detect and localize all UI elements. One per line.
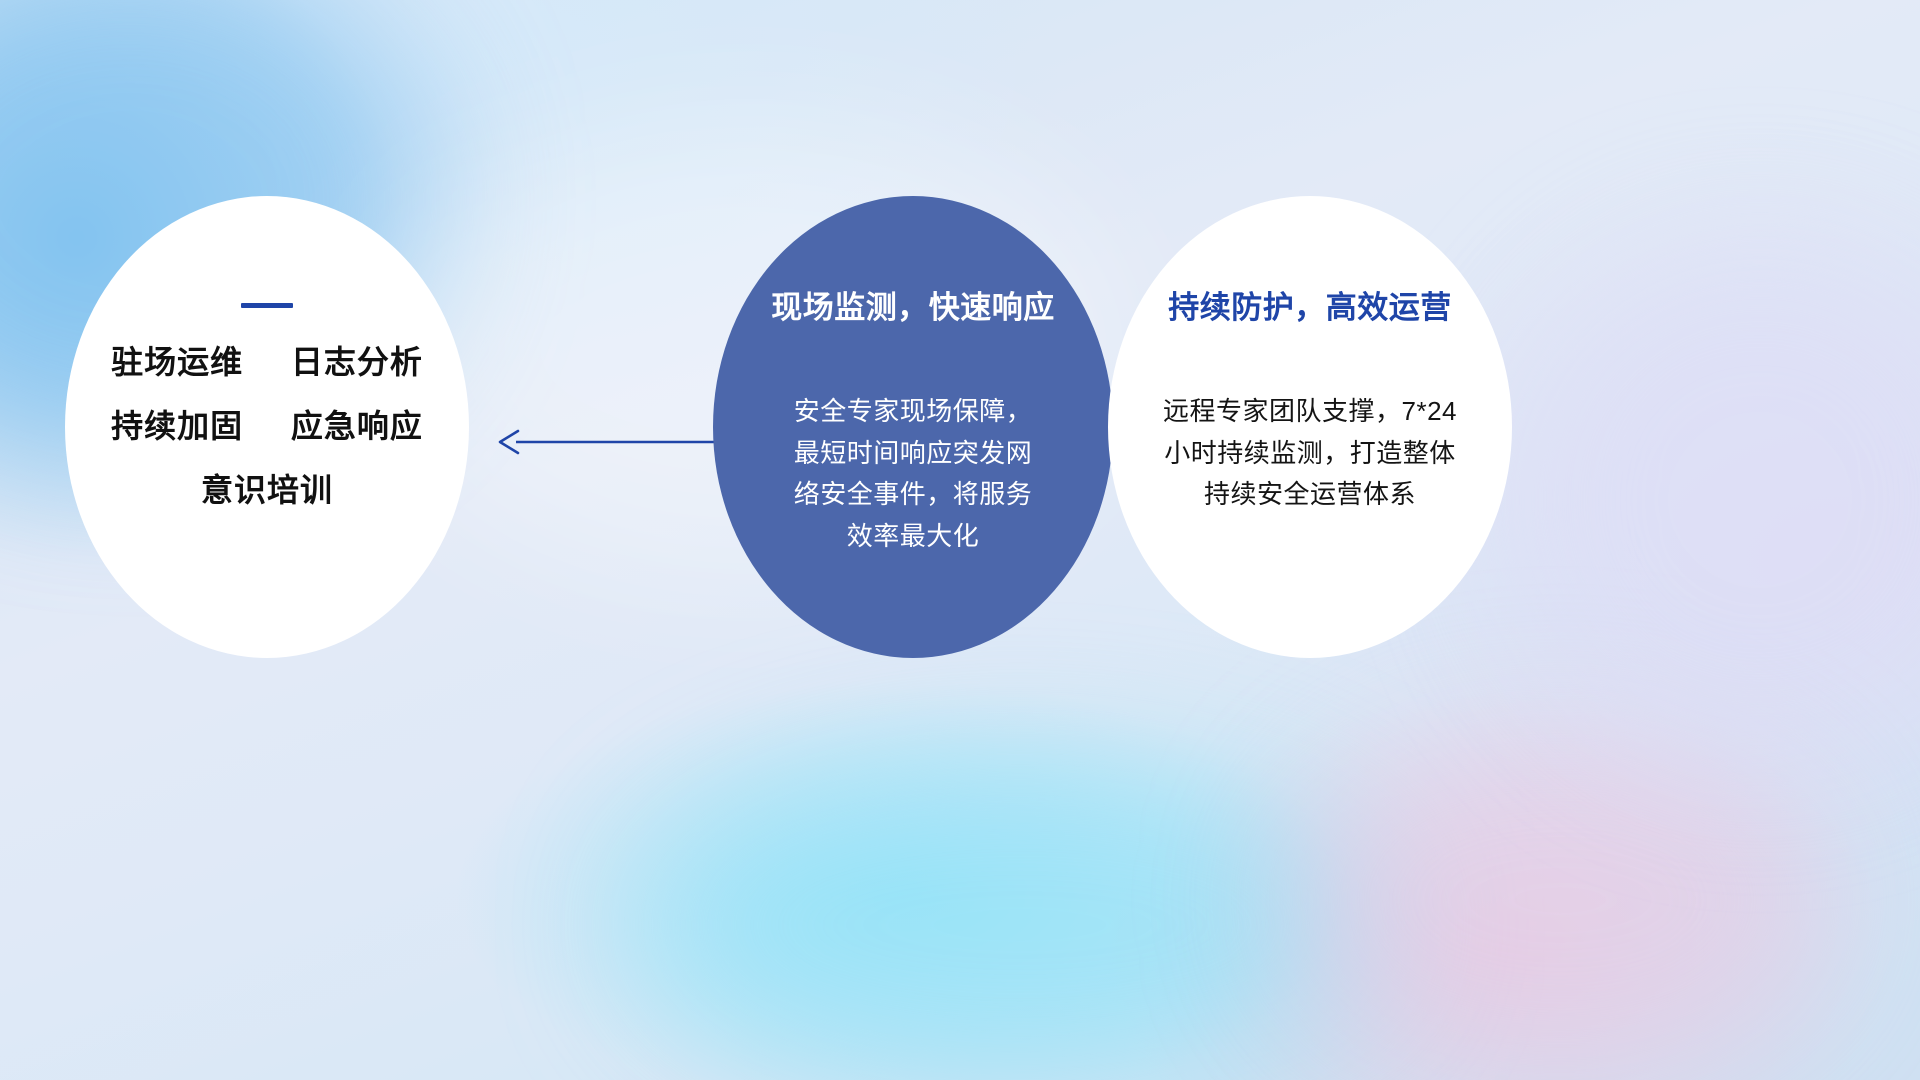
body-line: 络安全事件，将服务	[748, 474, 1078, 516]
keyword-label: 意识培训	[201, 472, 333, 508]
body-line: 小时持续监测，打造整体	[1138, 433, 1483, 475]
background-glow-cyan	[640, 760, 1400, 1080]
right-circle-heading: 持续防护，高效运营	[1138, 291, 1483, 325]
body-line: 安全专家现场保障，	[748, 391, 1078, 433]
keyword-label: 持续加固	[111, 408, 243, 444]
capability-circle-middle: 现场监测，快速响应 安全专家现场保障， 最短时间响应突发网 络安全事件，将服务 …	[713, 196, 1113, 658]
middle-circle-heading: 现场监测，快速响应	[748, 291, 1078, 325]
keyword-row: 驻场运维 日志分析	[65, 346, 469, 378]
body-line: 远程专家团队支撑，7*24	[1138, 391, 1483, 433]
divider-dash-icon	[241, 303, 293, 308]
background-glow-pink	[1280, 720, 1840, 1080]
capability-circle-left: 驻场运维 日志分析 持续加固 应急响应 意识培训	[65, 196, 469, 658]
capability-circle-right: 持续防护，高效运营 远程专家团队支撑，7*24 小时持续监测，打造整体 持续安全…	[1108, 196, 1512, 658]
body-line: 最短时间响应突发网	[748, 433, 1078, 475]
keyword-label: 日志分析	[291, 344, 423, 380]
body-line: 持续安全运营体系	[1138, 474, 1483, 516]
body-line: 效率最大化	[748, 516, 1078, 558]
left-arrow-icon	[492, 420, 722, 464]
middle-circle-body: 安全专家现场保障， 最短时间响应突发网 络安全事件，将服务 效率最大化	[748, 391, 1078, 557]
keyword-row: 持续加固 应急响应	[65, 410, 469, 442]
keyword-row-final: 意识培训	[65, 474, 469, 506]
right-circle-body: 远程专家团队支撑，7*24 小时持续监测，打造整体 持续安全运营体系	[1138, 391, 1483, 516]
keyword-label: 应急响应	[291, 408, 423, 444]
keyword-label: 驻场运维	[111, 344, 243, 380]
background-glow-lavender	[1500, 240, 1920, 760]
slide-canvas: 驻场运维 日志分析 持续加固 应急响应 意识培训 现场监测，快速响应 安全专家现…	[0, 0, 1920, 1080]
